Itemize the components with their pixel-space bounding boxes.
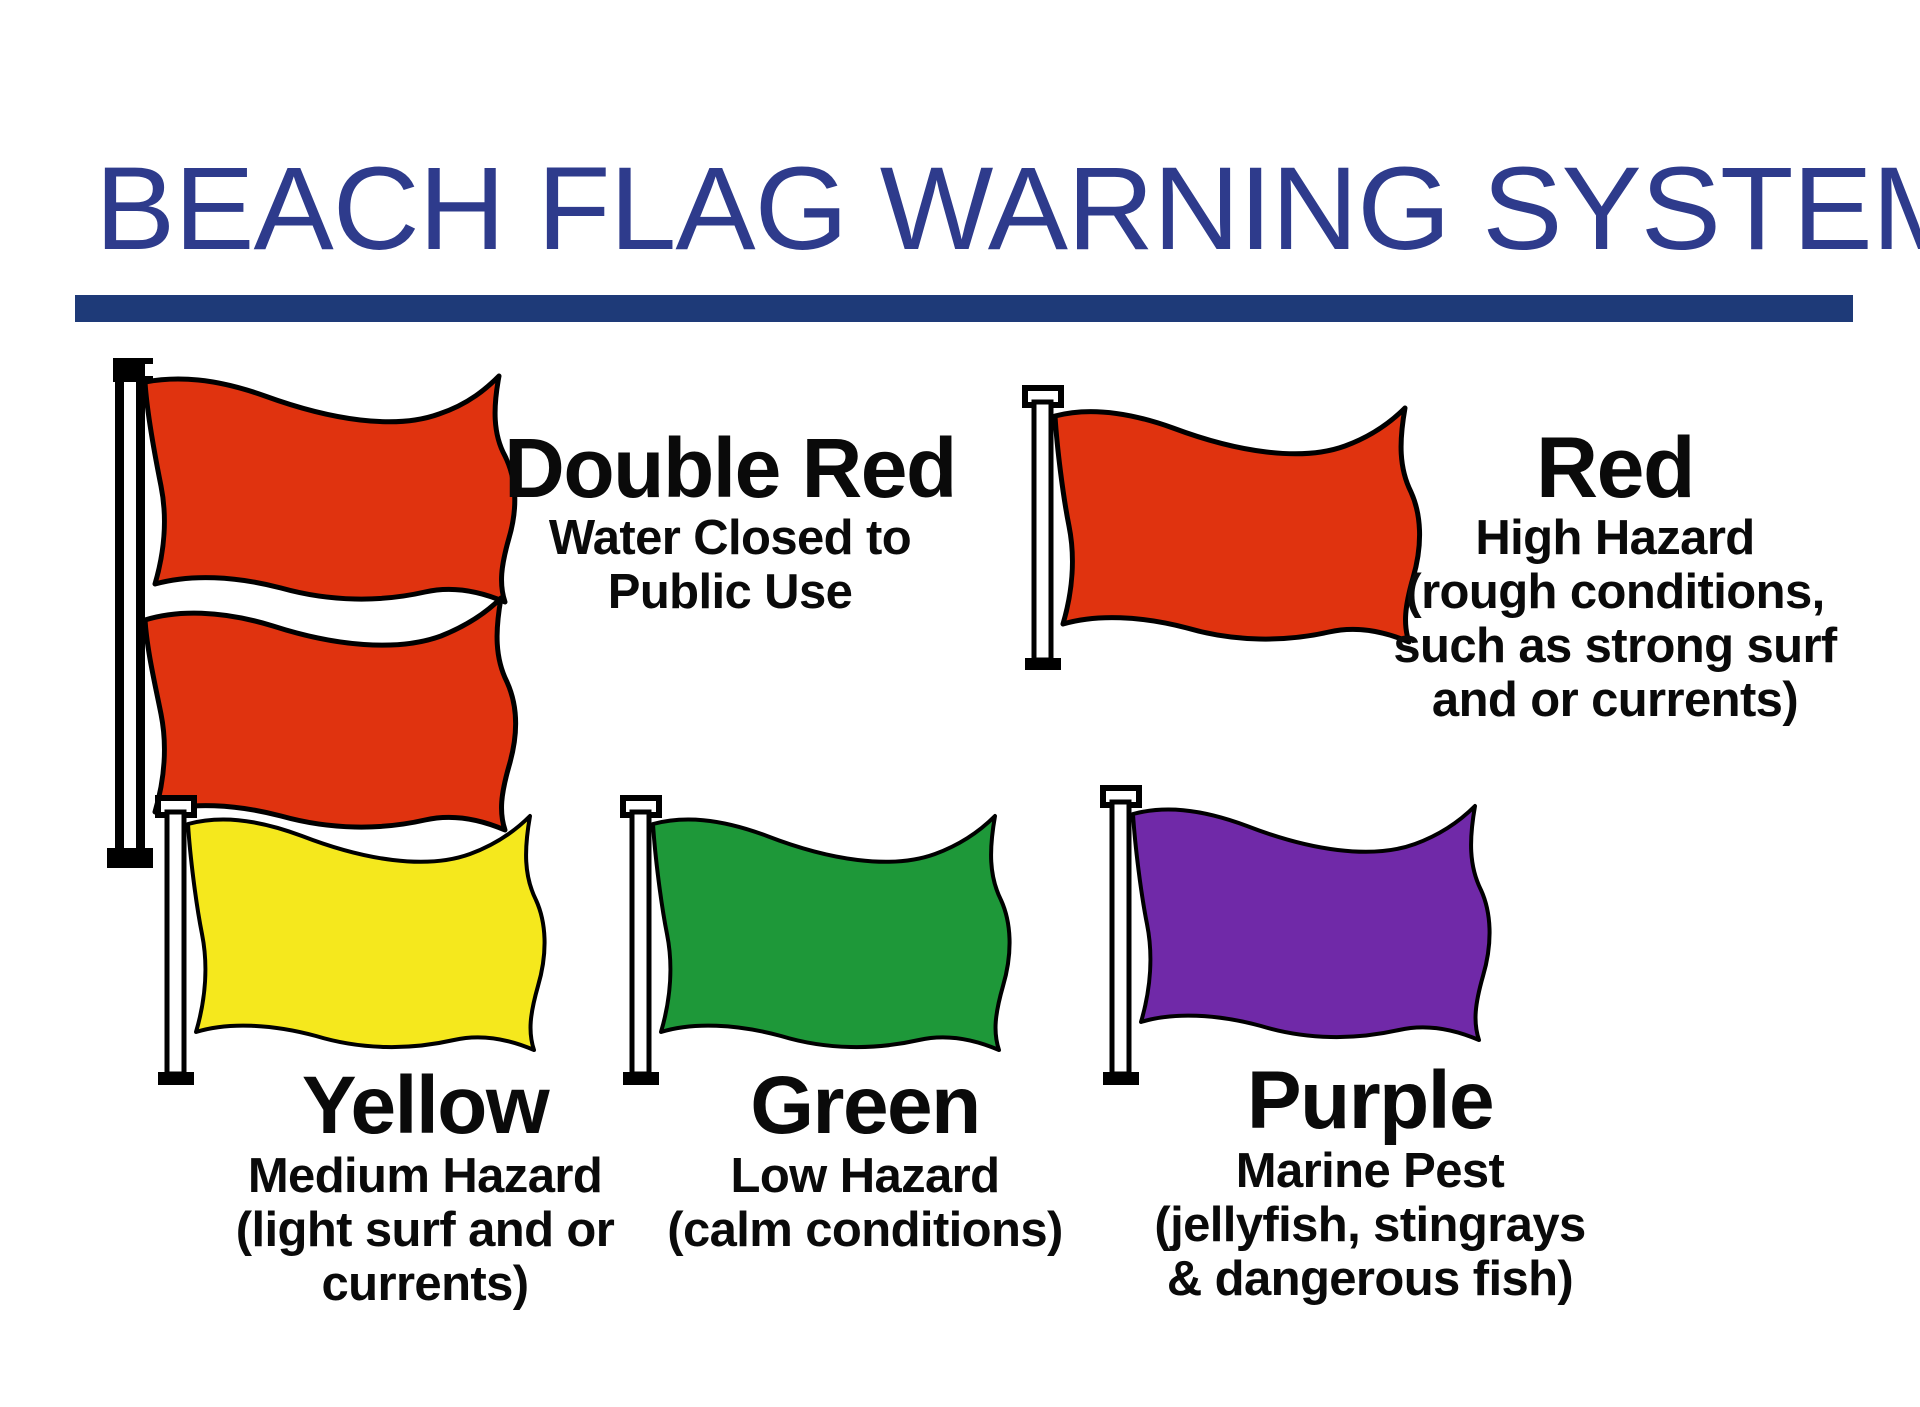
yellow-flag-cloth xyxy=(188,816,545,1050)
purple-flag-cloth xyxy=(1133,806,1490,1040)
green-flag-graphic xyxy=(615,790,1035,1090)
caption-purple: Purple Marine Pest (jellyfish, stingrays… xyxy=(1060,1058,1680,1306)
flagpole-black xyxy=(107,358,153,868)
caption-green: Green Low Hazard (calm conditions) xyxy=(600,1063,1130,1257)
caption-line: such as strong surf xyxy=(1380,619,1850,673)
title-divider-bar xyxy=(75,295,1853,322)
caption-line: and or currents) xyxy=(1380,673,1850,727)
caption-line: High Hazard xyxy=(1380,511,1850,565)
caption-body-red: High Hazard (rough conditions, such as s… xyxy=(1380,511,1850,727)
caption-heading-green: Green xyxy=(600,1063,1130,1149)
caption-line: & dangerous fish) xyxy=(1060,1252,1680,1306)
poster-canvas: BEACH FLAG WARNING SYSTEM Double Red Wat… xyxy=(0,0,1920,1407)
caption-body-double-red: Water Closed to Public Use xyxy=(420,511,1040,619)
caption-line: Low Hazard xyxy=(600,1149,1130,1203)
caption-red: Red High Hazard (rough conditions, such … xyxy=(1380,425,1850,727)
caption-line: Marine Pest xyxy=(1060,1144,1680,1198)
caption-heading-double-red: Double Red xyxy=(420,425,1040,511)
flag-green xyxy=(615,790,1035,1090)
red-flag-cloth xyxy=(1055,408,1420,642)
caption-line: (calm conditions) xyxy=(600,1203,1130,1257)
page-title: BEACH FLAG WARNING SYSTEM xyxy=(95,150,1890,268)
caption-double-red: Double Red Water Closed to Public Use xyxy=(420,425,1040,619)
caption-heading-red: Red xyxy=(1380,425,1850,511)
caption-line: currents) xyxy=(135,1257,715,1311)
caption-body-purple: Marine Pest (jellyfish, stingrays & dang… xyxy=(1060,1144,1680,1306)
caption-line: (jellyfish, stingrays xyxy=(1060,1198,1680,1252)
caption-line: Water Closed to xyxy=(420,511,1040,565)
green-flag-cloth xyxy=(653,816,1010,1050)
flag-yellow xyxy=(150,790,570,1090)
caption-line: Public Use xyxy=(420,565,1040,619)
caption-body-green: Low Hazard (calm conditions) xyxy=(600,1149,1130,1257)
caption-heading-purple: Purple xyxy=(1060,1058,1680,1144)
caption-line: (rough conditions, xyxy=(1380,565,1850,619)
purple-flag-graphic xyxy=(1095,780,1515,1090)
flag-purple xyxy=(1095,780,1515,1090)
yellow-flag-graphic xyxy=(150,790,570,1090)
